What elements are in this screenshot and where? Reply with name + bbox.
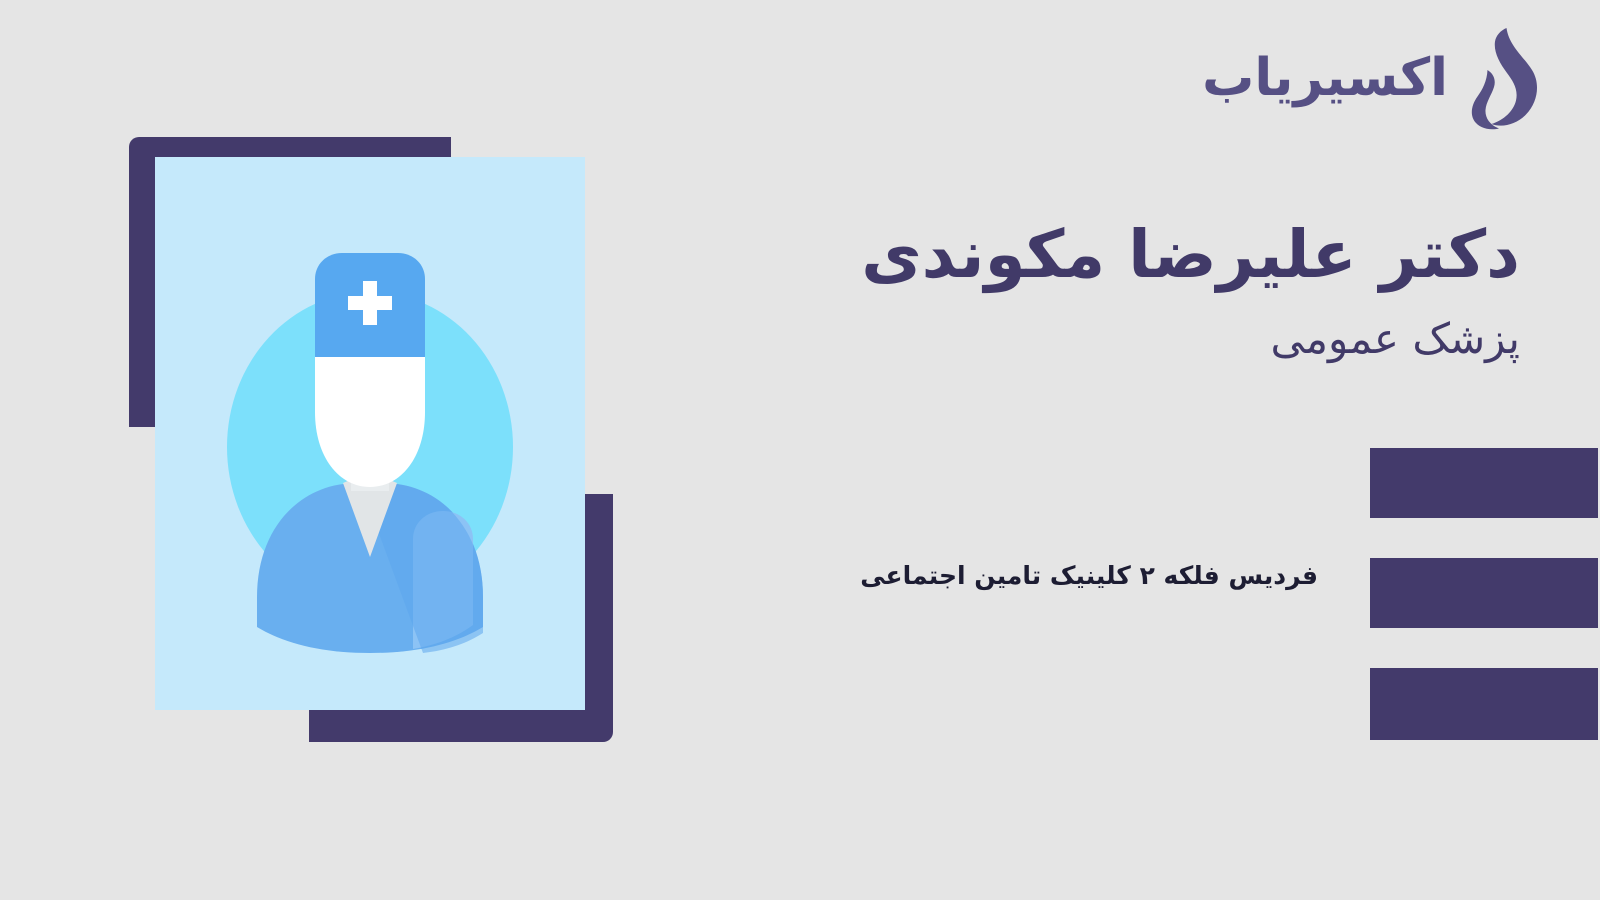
illustration-card — [155, 157, 585, 710]
decor-bar-3 — [1370, 668, 1598, 740]
doctor-address: فردیس فلکه ۲ کلینیک تامین اجتماعی — [860, 560, 1318, 593]
doctor-avatar-icon — [155, 157, 585, 710]
doctor-illustration — [129, 137, 619, 742]
page-title: دکتر علیرضا مکوندی — [760, 216, 1520, 294]
decor-bar-2 — [1370, 558, 1598, 628]
profile-card-canvas: اکسیریاب — [0, 0, 1600, 900]
flame-droplet-icon — [1462, 26, 1540, 130]
brand-logo: اکسیریاب — [1202, 26, 1540, 130]
doctor-info: دکتر علیرضا مکوندی پزشک عمومی — [760, 216, 1520, 366]
decor-bar-1 — [1370, 448, 1598, 518]
doctor-specialty: پزشک عمومی — [760, 312, 1520, 367]
brand-name: اکسیریاب — [1202, 52, 1448, 104]
